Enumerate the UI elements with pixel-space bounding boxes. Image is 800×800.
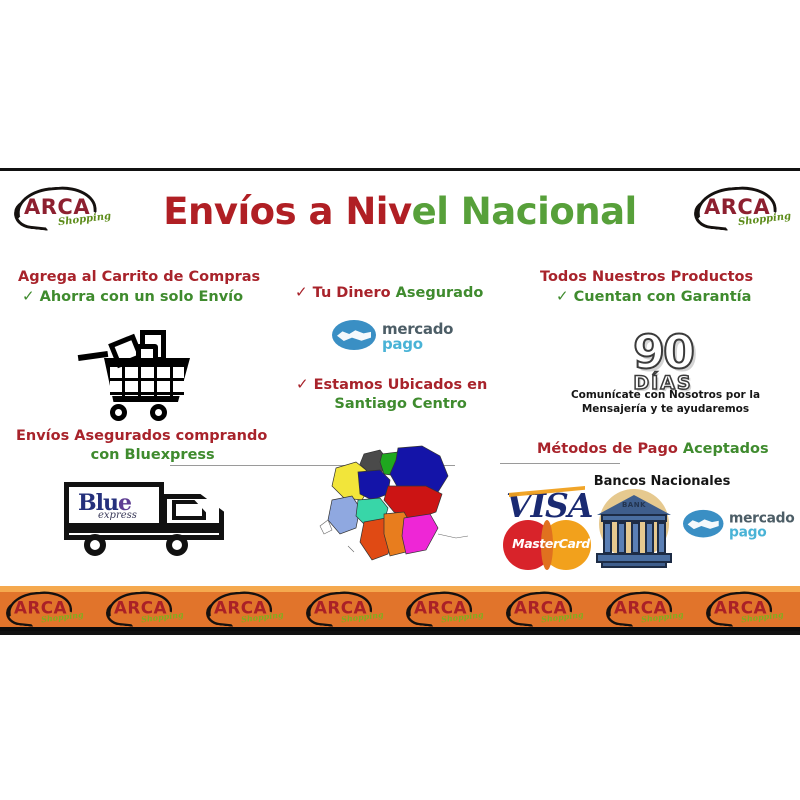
handshake-icon [683,510,723,538]
divider-right [500,463,620,464]
claim-location: ✓ Estamos Ubicados en Santiago Centro [296,375,487,414]
footer-logo-cell: ARCAShopping [0,592,100,628]
claim-payment-methods: Métodos de Pago Aceptados [537,440,769,459]
bluexpress-sub: express [98,511,137,521]
check-icon: ✓ [296,375,309,393]
claim-location-line1: Estamos Ubicados en [314,377,488,393]
mercadopago-bottom: pago [729,525,766,539]
claim-money-red: Tu Dinero [313,285,396,301]
footer-logo-strip: ARCAShoppingARCAShoppingARCAShoppingARCA… [0,586,800,631]
bank-base-lower [601,561,667,568]
footer-logo-cell: ARCAShopping [200,592,300,628]
claim-money-secure: ✓ Tu Dinero Asegurado [295,283,483,303]
arca-logo-footer: ARCAShopping [206,591,275,626]
warranty-note: Comunícate con Nosotros por la Mensajerí… [548,388,783,416]
promo-banner: ARCA Shopping ARCA Shopping Envíos a Niv… [0,0,800,800]
footer-logo-cell: ARCAShopping [400,592,500,628]
claim-shipping-line2: con Bluexpress [16,446,267,465]
claim-shopping-cart: Agrega al Carrito de Compras ✓ Ahorra co… [18,268,260,307]
truck-wheel-right [166,534,188,556]
claim-guarantee: Todos Nuestros Productos ✓ Cuentan con G… [540,268,753,307]
claim-guarantee-line1: Todos Nuestros Productos [540,268,753,287]
map-region-celeste [328,496,360,534]
santiago-region-map [318,442,488,572]
footer-logo-cell: ARCAShopping [700,592,800,628]
warranty-number: 90 [598,330,728,374]
map-svg [318,442,488,572]
bank-column [603,522,612,554]
bluexpress-truck-icon: Blue express [62,478,232,556]
mastercard-logo: MasterCard [503,520,599,570]
claim-cart-line2: Ahorra con un solo Envío [40,289,243,305]
shopping-cart-icon [78,330,198,425]
page-title: Envíos a Nivel Nacional [0,190,800,233]
visa-logo: VISA [506,489,592,522]
arca-logo-footer: ARCAShopping [6,591,75,626]
cart-wheel-left [110,404,127,421]
headline-green-part: el Nacional [412,190,637,233]
handshake-icon [332,320,376,350]
check-icon: ✓ [556,287,569,305]
arca-logo-footer: ARCAShopping [706,591,775,626]
bank-column [631,522,640,554]
bank-lintel [601,514,667,522]
check-icon: ✓ [295,283,308,301]
bottom-divider [0,631,800,635]
claim-money-green: Asegurado [396,285,484,301]
claim-cart-line1: Agrega al Carrito de Compras [18,268,260,287]
truck-wheel-left [84,534,106,556]
bank-label: BANK [595,501,673,509]
claim-insured-shipping: Envíos Asegurados comprando con Bluexpre… [16,427,267,465]
warranty-note-line1: Comunícate con Nosotros por la [548,388,783,402]
footer-logo-cell: ARCAShopping [300,592,400,628]
bank-column [657,522,666,554]
check-icon: ✓ [22,287,35,305]
claim-shipping-line1: Envíos Asegurados comprando [16,427,267,446]
top-divider [0,168,800,171]
warranty-note-line2: Mensajería y te ayudaremos [548,402,783,416]
arca-logo-footer: ARCAShopping [506,591,575,626]
footer-logo-cell: ARCAShopping [600,592,700,628]
map-region-magenta [402,514,438,554]
headline-red-part: Envíos a Niv [163,190,411,233]
cart-wheel-right [150,404,167,421]
cart-grid [110,364,184,396]
cart-handle [78,351,109,361]
arca-logo-footer: ARCAShopping [606,591,675,626]
arca-logo-footer: ARCAShopping [106,591,175,626]
claim-payment-green: Aceptados [683,441,769,457]
mastercard-wordmark: MasterCard [505,536,597,551]
mercadopago-bottom: pago [382,337,423,352]
bank-column [617,522,626,554]
claim-payment-red: Métodos de Pago [537,441,683,457]
bank-column [645,522,654,554]
footer-logo-cell: ARCAShopping [500,592,600,628]
claim-location-line2: Santiago Centro [296,395,487,414]
footer-logo-cell: ARCAShopping [100,592,200,628]
arca-logo-footer: ARCAShopping [306,591,375,626]
bank-icon: BANK [595,487,673,569]
arca-logo-footer: ARCAShopping [406,591,475,626]
claim-guarantee-line2: Cuentan con Garantía [574,289,752,305]
